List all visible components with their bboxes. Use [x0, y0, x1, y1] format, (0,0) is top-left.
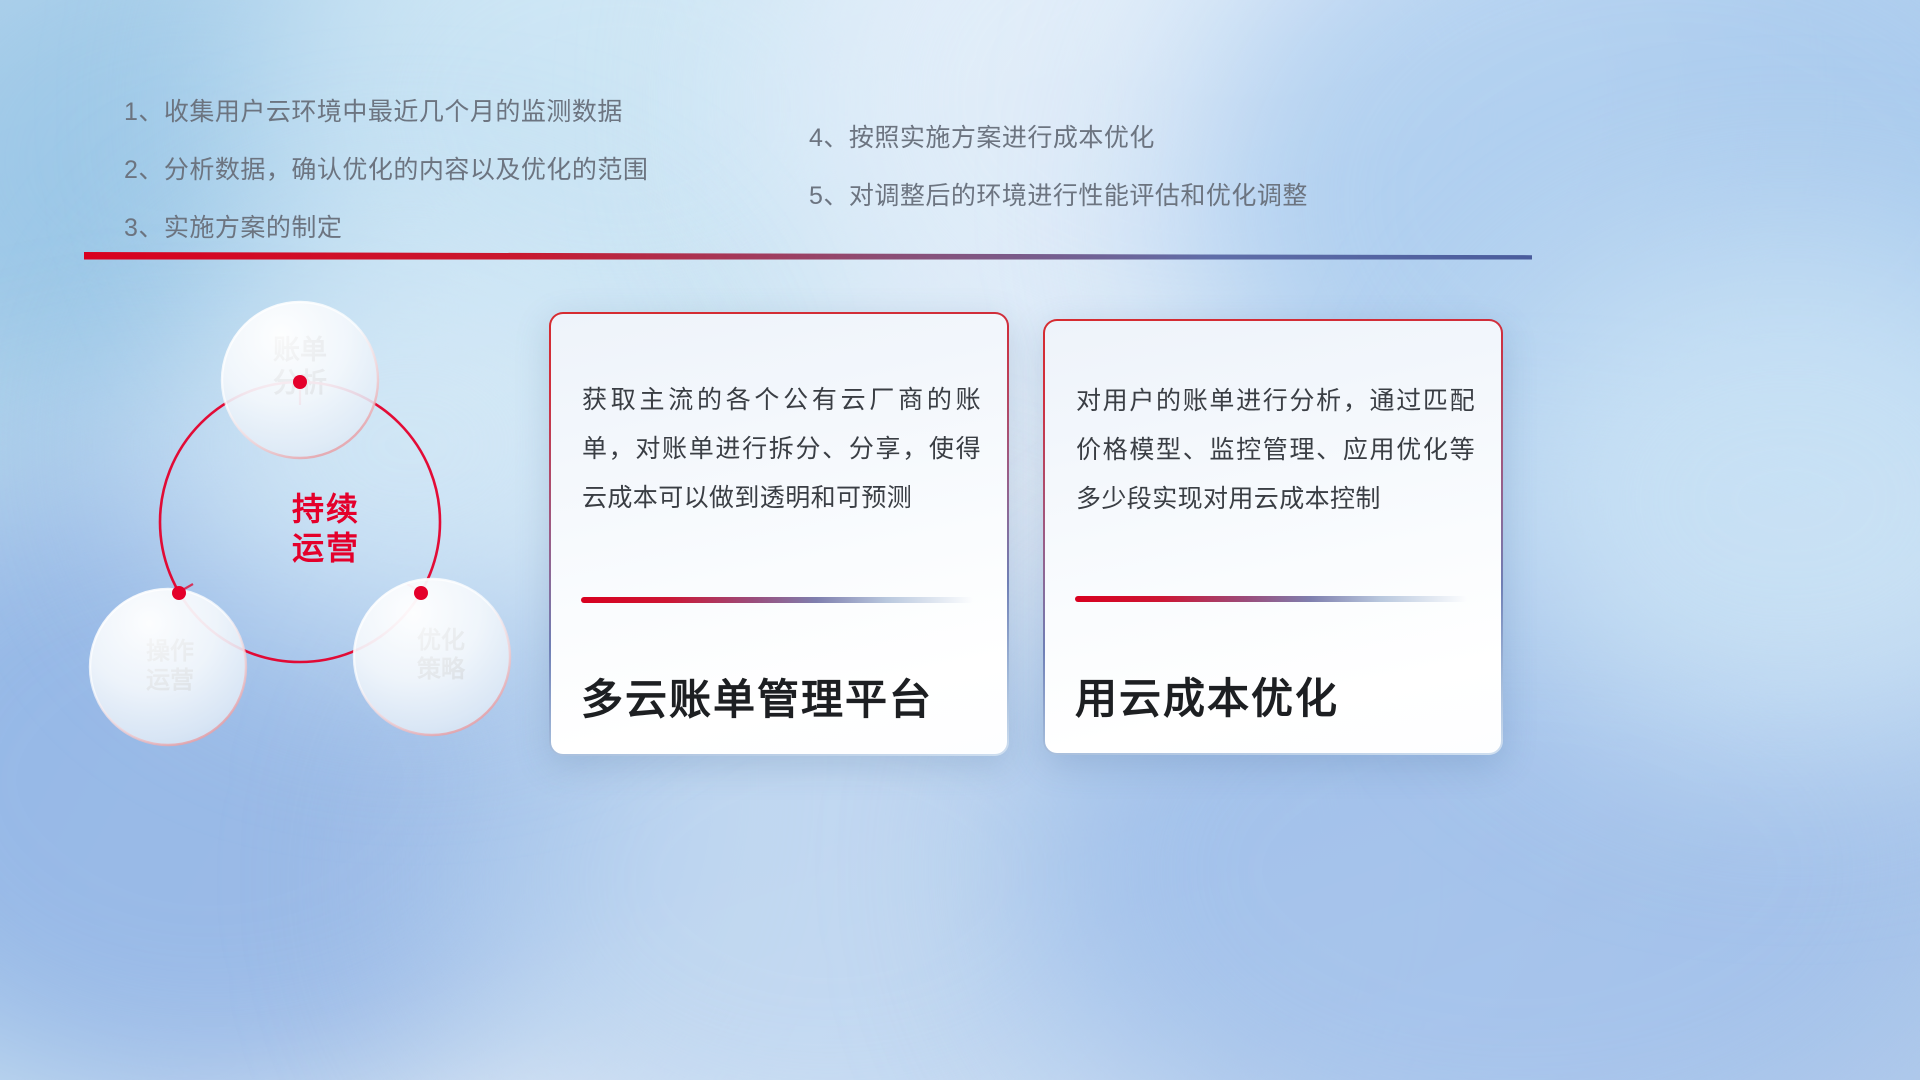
card-surface: 获取主流的各个公有云厂商的账单，对账单进行拆分、分享，使得云成本可以做到透明和可…	[551, 314, 1007, 754]
card-cloud-cost-optimization[interactable]: 对用户的账单进行分析，通过匹配价格模型、监控管理、应用优化等多少段实现对用云成本…	[1043, 319, 1503, 755]
card-accent-rule	[581, 597, 973, 603]
section-divider	[84, 252, 1532, 261]
step-item: 4、按照实施方案进行成本优化	[809, 126, 1308, 151]
venn-diagram	[75, 285, 545, 765]
card-title: 多云账单管理平台	[581, 666, 983, 727]
card-surface: 对用户的账单进行分析，通过匹配价格模型、监控管理、应用优化等多少段实现对用云成本…	[1045, 321, 1501, 753]
card-accent-rule	[1075, 596, 1467, 602]
venn-bubble-ops	[90, 589, 246, 745]
steps-list-right: 4、按照实施方案进行成本优化 5、对调整后的环境进行性能评估和优化调整	[809, 126, 1308, 242]
venn-node-dot	[414, 586, 428, 600]
card-multi-cloud-billing-platform[interactable]: 获取主流的各个公有云厂商的账单，对账单进行拆分、分享，使得云成本可以做到透明和可…	[549, 312, 1009, 756]
card-body-text: 获取主流的各个公有云厂商的账单，对账单进行拆分、分享，使得云成本可以做到透明和可…	[582, 376, 981, 522]
card-body-text: 对用户的账单进行分析，通过匹配价格模型、监控管理、应用优化等多少段实现对用云成本…	[1076, 377, 1475, 523]
step-item: 3、实施方案的制定	[124, 216, 648, 241]
step-item: 1、收集用户云环境中最近几个月的监测数据	[124, 100, 648, 125]
step-item: 2、分析数据，确认优化的内容以及优化的范围	[124, 158, 648, 183]
venn-node-dot	[172, 586, 186, 600]
venn-bubble-policy	[354, 579, 510, 735]
step-item: 5、对调整后的环境进行性能评估和优化调整	[809, 184, 1308, 209]
venn-node-dot	[293, 375, 307, 389]
card-title: 用云成本优化	[1075, 665, 1477, 726]
steps-list-left: 1、收集用户云环境中最近几个月的监测数据 2、分析数据，确认优化的内容以及优化的…	[124, 100, 648, 274]
